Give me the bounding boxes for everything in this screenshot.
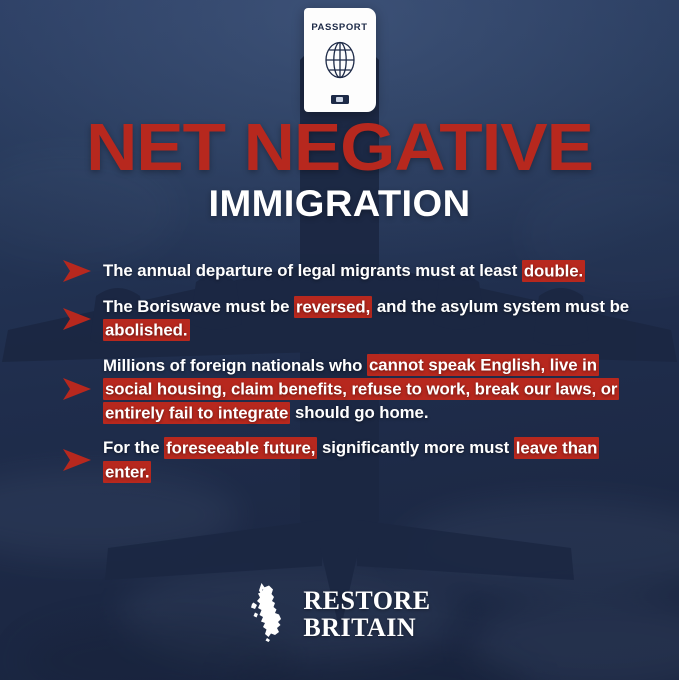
plain-phrase: should go home. [290, 403, 428, 422]
list-item: Millions of foreign nationals who cannot… [60, 354, 641, 426]
headline-primary: NET NEGATIVE [0, 117, 679, 179]
logo-wordmark: RESTORE BRITAIN [303, 588, 430, 641]
plain-phrase: and the asylum system must be [372, 297, 629, 316]
arrow-right-icon [60, 376, 94, 402]
highlighted-phrase: reversed, [294, 296, 372, 318]
headline-block: NET NEGATIVE IMMIGRATION [0, 117, 679, 222]
arrow-right-icon [60, 447, 94, 473]
passport-label: PASSPORT [311, 22, 367, 33]
bullet-text: The annual departure of legal migrants m… [103, 259, 585, 283]
highlighted-phrase: foreseeable future, [164, 437, 317, 459]
arrow-right-icon [60, 258, 94, 284]
plain-phrase: The Boriswave must be [103, 297, 294, 316]
highlighted-phrase: abolished. [103, 319, 190, 341]
list-item: For the foreseeable future, significantl… [60, 436, 641, 484]
headline-secondary: IMMIGRATION [0, 185, 679, 222]
globe-icon [323, 40, 357, 85]
passport-graphic: PASSPORT [304, 8, 376, 112]
policy-bullet-list: The annual departure of legal migrants m… [60, 258, 641, 484]
poster-canvas: PASSPORT NET NEGATIVE IMMIGRATION T [0, 0, 679, 680]
bullet-text: The Boriswave must be reversed, and the … [103, 295, 641, 343]
logo-line-britain: BRITAIN [303, 615, 430, 642]
arrow-right-icon [60, 306, 94, 332]
list-item: The annual departure of legal migrants m… [60, 258, 641, 284]
logo-line-restore: RESTORE [303, 588, 430, 615]
plain-phrase: For the [103, 438, 164, 457]
list-item: The Boriswave must be reversed, and the … [60, 295, 641, 343]
uk-map-icon [248, 581, 292, 648]
plain-phrase: significantly more must [317, 438, 513, 457]
highlighted-phrase: double. [522, 260, 585, 282]
plain-phrase: Millions of foreign nationals who [103, 356, 367, 375]
bullet-text: For the foreseeable future, significantl… [103, 436, 641, 484]
bullet-text: Millions of foreign nationals who cannot… [103, 354, 641, 426]
plain-phrase: The annual departure of legal migrants m… [103, 261, 522, 280]
restore-britain-logo[interactable]: RESTORE BRITAIN [0, 581, 679, 648]
biometric-chip-icon [331, 95, 349, 104]
